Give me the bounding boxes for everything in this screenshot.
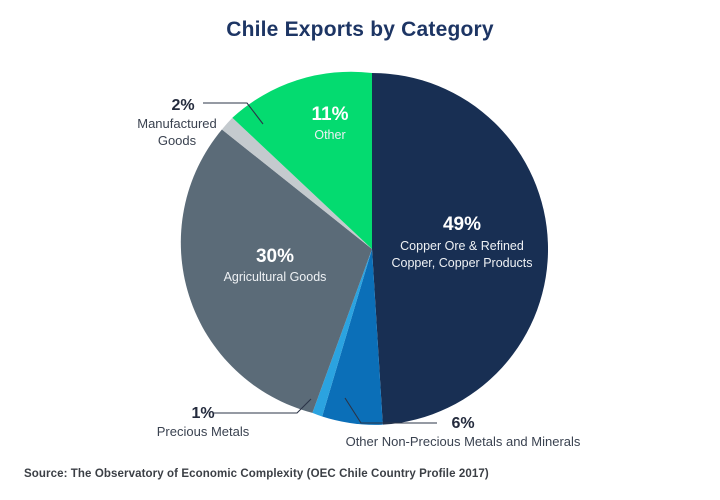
slice-label-other-metals: Other Non-Precious Metals and Minerals [346,434,581,449]
slice-percent-other-metals: 6% [451,415,474,432]
slice-label-manufactured-line1: Manufactured [137,116,217,131]
slice-percent-copper: 49% [443,214,481,235]
slice-label-copper-line1: Copper Ore & Refined [400,239,524,253]
source-note: Source: The Observatory of Economic Comp… [24,468,489,480]
slice-percent-agricultural: 30% [256,246,294,267]
slice-label-agricultural: Agricultural Goods [224,270,327,284]
slice-label-manufactured-line2: Goods [158,133,197,148]
slice-label-other: Other [314,128,345,142]
slice-percent-precious-metals: 1% [191,405,214,422]
slice-percent-other: 11% [312,104,349,125]
slice-label-precious-metals: Precious Metals [157,424,250,439]
outside-label-manufactured: 2% Manufactured Goods [137,97,217,148]
slice-percent-manufactured: 2% [171,97,194,114]
outside-label-precious-metals: 1% Precious Metals [157,405,250,439]
pie-chart-figure: Chile Exports by Category 49% Copper Ore… [0,0,720,500]
slice-label-copper-line2: Copper, Copper Products [391,256,532,270]
inside-label-other: 11% Other [312,104,349,142]
pie-chart-svg: 49% Copper Ore & Refined Copper, Copper … [0,0,720,500]
